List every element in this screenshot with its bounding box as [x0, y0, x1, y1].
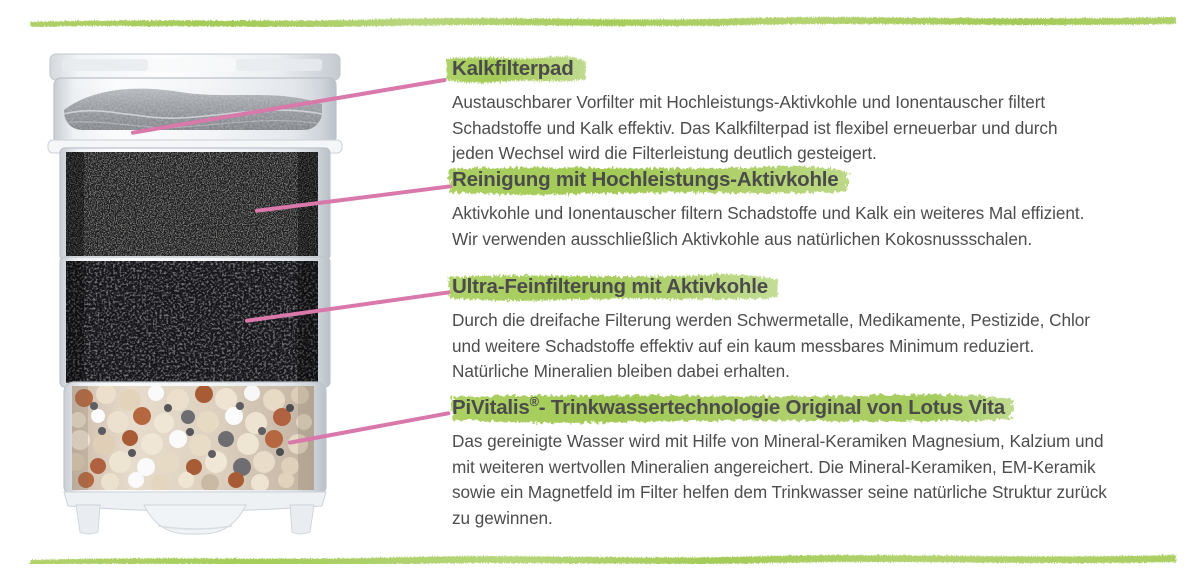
- callout-body-text: Durch die dreifache Filterung werden Sch…: [452, 308, 1152, 385]
- heading-brand-name: PiVitalis: [452, 396, 530, 419]
- callout-heading-ultra-feinfilterung: Ultra-Feinfilterung mit Aktivkohle: [445, 272, 782, 304]
- callout-body-text: Aktivkohle und Ionentauscher filtern Sch…: [452, 201, 1152, 252]
- callout-pivitalis: PiVitalis®- Trinkwassertechnologie Origi…: [452, 393, 1152, 531]
- callout-heading-pivitalis: PiVitalis®- Trinkwassertechnologie Origi…: [445, 393, 1019, 425]
- callout-reinigung-aktivkohle: Reinigung mit Hochleistungs-Aktivkohle A…: [452, 165, 1152, 252]
- top-brush-border-decoration: [28, 14, 1178, 27]
- callout-kalkfilterpad: Kalkfilterpad Austauschbarer Vorfilter m…: [452, 54, 1152, 167]
- callout-heading-kalkfilterpad: Kalkfilterpad: [445, 54, 588, 86]
- callout-heading-text: Ultra-Feinfilterung mit Aktivkohle: [452, 275, 768, 298]
- registered-trademark-icon: ®: [530, 394, 539, 409]
- callout-body-text: Das gereinigte Wasser wird mit Hilfe von…: [452, 429, 1152, 531]
- bottom-brush-border-decoration: [28, 551, 1178, 564]
- callout-ultra-feinfilterung: Ultra-Feinfilterung mit Aktivkohle Durch…: [452, 272, 1152, 385]
- callout-heading-text: PiVitalis®- Trinkwassertechnologie Origi…: [452, 396, 1005, 419]
- callout-heading-text: Reinigung mit Hochleistungs-Aktivkohle: [452, 168, 839, 191]
- callout-heading-text: Kalkfilterpad: [452, 57, 574, 80]
- callout-heading-reinigung-aktivkohle: Reinigung mit Hochleistungs-Aktivkohle: [445, 165, 853, 197]
- infographic-page: Kalkfilterpad Austauschbarer Vorfilter m…: [0, 0, 1200, 575]
- heading-remainder: - Trinkwassertechnologie Original von Lo…: [539, 396, 1005, 419]
- callout-body-text: Austauschbarer Vorfilter mit Hochleistun…: [452, 90, 1152, 167]
